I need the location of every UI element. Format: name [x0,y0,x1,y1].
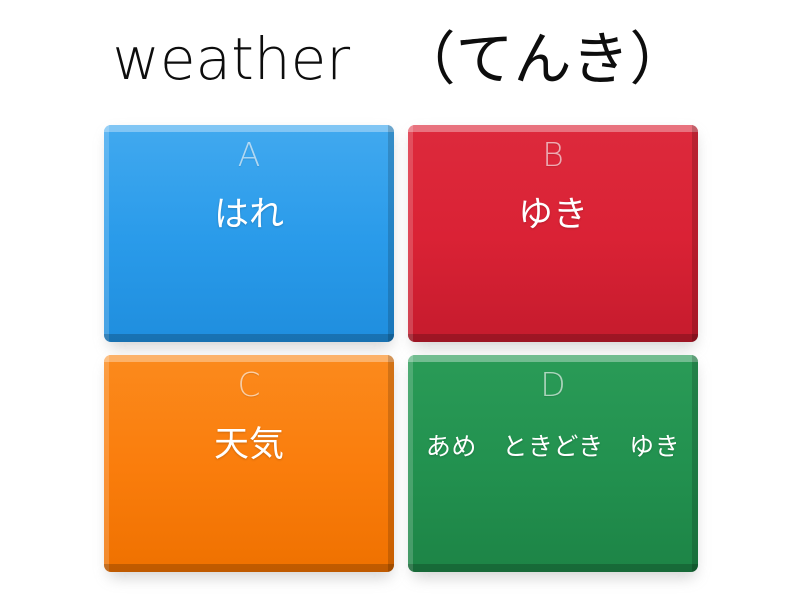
card-c-bevel-right [388,355,394,572]
card-d-bevel-left [408,355,413,572]
card-a-body [104,125,394,342]
card-d-bevel-right [692,355,698,572]
answer-card-grid: A はれ B ゆき [104,125,698,559]
card-b-bevel-left [408,125,413,342]
answer-card-c[interactable]: C 天気 [104,355,394,572]
quiz-page: weather （てんき） A はれ [0,0,800,600]
card-b-bevel-right [692,125,698,342]
card-c-body [104,355,394,572]
answer-card-b[interactable]: B ゆき [408,125,698,342]
card-a-bevel-right [388,125,394,342]
card-a-bevel-bottom [104,334,394,342]
card-c-bevel-top [104,355,394,362]
answer-card-d[interactable]: D あめ ときどき ゆき [408,355,698,572]
answer-card-a[interactable]: A はれ [104,125,394,342]
page-title-bar: weather （てんき） [0,18,800,100]
card-b-body [408,125,698,342]
card-d-bevel-top [408,355,698,362]
card-b-bevel-bottom [408,334,698,342]
card-a-bevel-top [104,125,394,132]
card-c-bevel-left [104,355,109,572]
page-title: weather （てんき） [112,30,687,88]
card-a-bevel-left [104,125,109,342]
card-c-bevel-bottom [104,564,394,572]
card-d-body [408,355,698,572]
card-d-bevel-bottom [408,564,698,572]
card-b-bevel-top [408,125,698,132]
